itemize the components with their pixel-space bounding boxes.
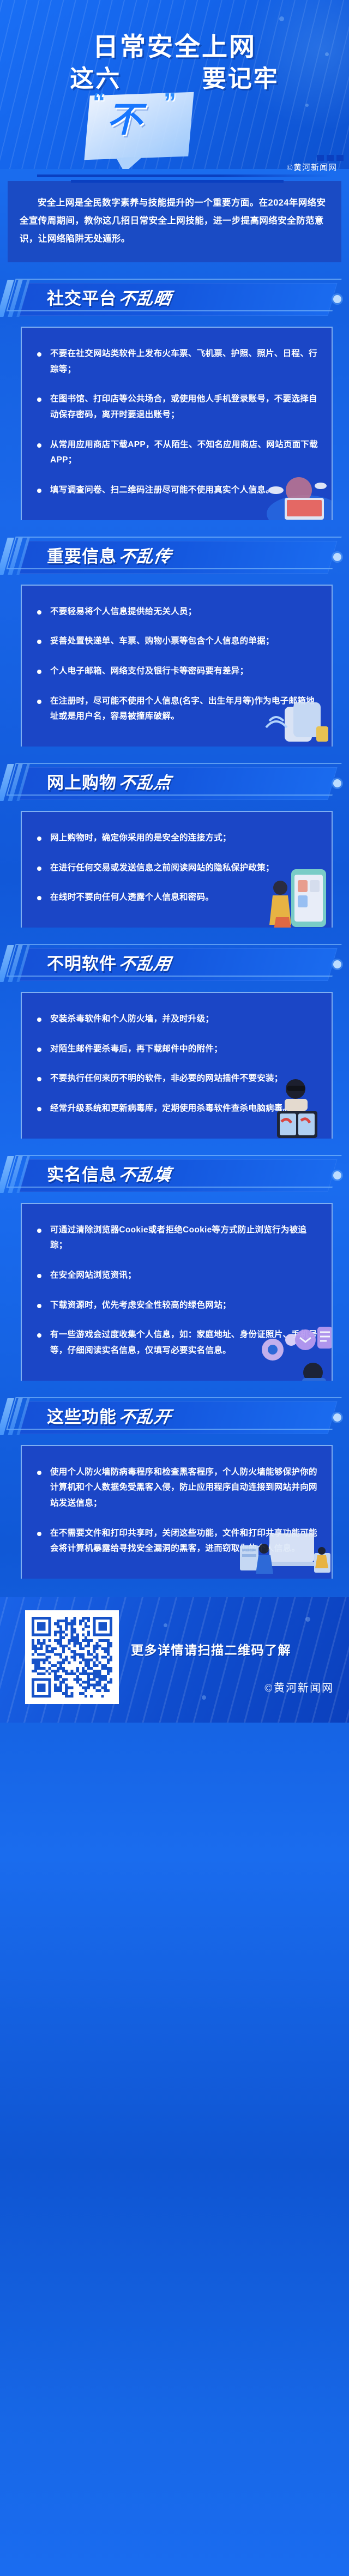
bullet-item: 使用个人防火墙防病毒程序和检查黑客程序，个人防火墙能够保护你的计算机和个人数据免… (34, 1465, 320, 1512)
hero-title-group: 日常安全上网 这六 要记牢 (0, 34, 349, 91)
section-bullet-list: 使用个人防火墙防病毒程序和检查黑客程序，个人防火墙能够保护你的计算机和个人数据免… (34, 1465, 320, 1557)
section-title: 网上购物不乱点 (47, 772, 171, 795)
section-title: 实名信息不乱填 (47, 1164, 171, 1187)
section-title-emphasis: 不乱点 (117, 772, 173, 795)
bullet-item: 个人电子邮箱、网络支付及银行卡等密码要有差异； (34, 664, 320, 679)
knob-decor (333, 553, 341, 561)
section-header-6: 这些功能不乱开 (0, 1397, 346, 1437)
bullet-item: 在安全网站浏览资讯； (34, 1268, 320, 1284)
bullet-item: 从常用应用商店下载APP，不从陌生、不知名应用商店、网站页面下载APP； (34, 437, 320, 468)
bullet-item: 有一些游戏会过度收集个人信息，如：家庭地址、身份证照片、手机号等，仔细阅读实名信… (34, 1327, 320, 1358)
bullet-item: 在注册时，尽可能不使用个人信息(名字、出生年月等)作为电子邮箱地址或是用户名，容… (34, 694, 320, 725)
section-bullet-list: 不要轻易将个人信息提供给无关人员；妥善处置快递单、车票、购物小票等包含个人信息的… (34, 604, 320, 725)
section-4: 不明软件不乱用安装杀毒软件和个人防火墙，并及时升级；对陌生邮件要杀毒后，再下载邮… (0, 944, 349, 1139)
section-body-1: 不要在社交网站类软件上发布火车票、飞机票、护照、照片、日程、行踪等；在图书馆、打… (21, 327, 333, 520)
section-body-3: 网上购物时，确定你采用的是安全的连接方式；在进行任何交易或发送信息之前阅读网站的… (21, 811, 333, 928)
sections-container: 社交平台不乱晒不要在社交网站类软件上发布火车票、飞机票、护照、照片、日程、行踪等… (0, 279, 349, 1579)
section-title-emphasis: 不乱传 (117, 545, 173, 568)
hero-title-line1: 日常安全上网 (0, 34, 349, 59)
section-title-normal: 这些功能 (47, 1407, 117, 1427)
hero-credit: ©黄河新闻网 (287, 161, 337, 173)
hero-line2-after: 要记牢 (202, 65, 279, 92)
section-bullet-list: 安装杀毒软件和个人防火墙，并及时升级；对陌生邮件要杀毒后，再下载邮件中的附件；不… (34, 1012, 320, 1117)
section-title: 不明软件不乱用 (47, 953, 171, 976)
section-body-2: 不要轻易将个人信息提供给无关人员；妥善处置快递单、车票、购物小票等包含个人信息的… (21, 585, 333, 747)
section-body-4: 安装杀毒软件和个人防火墙，并及时升级；对陌生邮件要杀毒后，再下载邮件中的附件；不… (21, 992, 333, 1139)
hero-emphasis-bu: 不 (107, 92, 141, 142)
bullet-item: 妥善处置快递单、车票、购物小票等包含个人信息的单据； (34, 634, 320, 649)
section-header-4: 不明软件不乱用 (0, 944, 346, 984)
section-body-6: 使用个人防火墙防病毒程序和检查黑客程序，个人防火墙能够保护你的计算机和个人数据免… (21, 1445, 333, 1579)
quote-right-glyph: ” (164, 87, 176, 117)
quote-left-glyph: “ (93, 87, 105, 117)
bullet-item: 在线时不要向任何人透露个人信息和密码。 (34, 890, 320, 906)
section-body-5: 可通过清除浏览器Cookie或者拒绝Cookie等方式防止浏览行为被追踪；在安全… (21, 1203, 333, 1381)
bullet-item: 下载资源时，优先考虑安全性较高的绿色网站； (34, 1298, 320, 1314)
hero-rule-secondary (71, 180, 284, 183)
footer-cta-text: 更多详情请扫描二维码了解 (131, 1640, 291, 1658)
intro-paragraph: 安全上网是全民数字素养与技能提升的一个重要方面。在2024年网络安全宣传周期间，… (20, 194, 329, 248)
hero-bar-decor (317, 155, 344, 161)
bullet-item: 不要在社交网站类软件上发布火车票、飞机票、护照、照片、日程、行踪等； (34, 346, 320, 377)
bullet-item: 可通过清除浏览器Cookie或者拒绝Cookie等方式防止浏览行为被追踪； (34, 1223, 320, 1254)
section-title-normal: 网上购物 (47, 773, 117, 792)
bullet-item: 在图书馆、打印店等公共场合，或使用他人手机登录账号，不要选择自动保存密码，离开时… (34, 392, 320, 423)
section-2: 重要信息不乱传不要轻易将个人信息提供给无关人员；妥善处置快递单、车票、购物小票等… (0, 537, 349, 747)
section-header-5: 实名信息不乱填 (0, 1155, 346, 1195)
bullet-item: 不要执行任何来历不明的软件，非必要的网站插件不要安装； (34, 1071, 320, 1087)
bullet-item: 在进行任何交易或发送信息之前阅读网站的隐私保护政策； (34, 860, 320, 876)
section-3: 网上购物不乱点网上购物时，确定你采用的是安全的连接方式；在进行任何交易或发送信息… (0, 763, 349, 928)
knob-decor (333, 960, 341, 968)
qr-code[interactable] (25, 1610, 119, 1704)
section-title-normal: 重要信息 (47, 547, 117, 566)
section-header-2: 重要信息不乱传 (0, 537, 346, 577)
section-6: 这些功能不乱开使用个人防火墙防病毒程序和检查黑客程序，个人防火墙能够保护你的计算… (0, 1397, 349, 1579)
knob-decor (333, 779, 341, 787)
hero-banner: 日常安全上网 这六 要记牢 “ 不 ” (0, 0, 349, 169)
bullet-item: 经常升级系统和更新病毒库，定期使用杀毒软件查杀电脑病毒。 (34, 1101, 320, 1117)
hero-rule-primary (37, 174, 333, 177)
section-title-emphasis: 不乱开 (117, 1406, 173, 1429)
section-bullet-list: 网上购物时，确定你采用的是安全的连接方式；在进行任何交易或发送信息之前阅读网站的… (34, 830, 320, 906)
intro-panel: 安全上网是全民数字素养与技能提升的一个重要方面。在2024年网络安全宣传周期间，… (8, 181, 341, 262)
section-header-1: 社交平台不乱晒 (0, 279, 346, 319)
footer-credit: ©黄河新闻网 (264, 1679, 334, 1695)
section-1: 社交平台不乱晒不要在社交网站类软件上发布火车票、飞机票、护照、照片、日程、行踪等… (0, 279, 349, 520)
section-title-emphasis: 不乱填 (117, 1164, 173, 1187)
section-header-3: 网上购物不乱点 (0, 763, 346, 803)
bullet-item: 网上购物时，确定你采用的是安全的连接方式； (34, 830, 320, 846)
section-title-normal: 实名信息 (47, 1165, 117, 1184)
bullet-item: 在不需要文件和打印共享时，关闭这些功能，文件和打印共享功能可能会将计算机暴露给寻… (34, 1526, 320, 1557)
bullet-item: 填写调查问卷、扫二维码注册尽可能不使用真实个人信息。 (34, 483, 320, 498)
section-title-emphasis: 不乱晒 (117, 287, 173, 310)
infographic-page: 日常安全上网 这六 要记牢 “ 不 ” ©黄河新闻网 安全上网是全民数字素养与技… (0, 0, 349, 2576)
knob-decor (333, 1413, 341, 1422)
section-5: 实名信息不乱填可通过清除浏览器Cookie或者拒绝Cookie等方式防止浏览行为… (0, 1155, 349, 1381)
section-title-normal: 不明软件 (47, 954, 117, 973)
section-title-normal: 社交平台 (47, 289, 117, 308)
footer-banner: 更多详情请扫描二维码了解 ©黄河新闻网 (0, 1597, 349, 1723)
section-bullet-list: 不要在社交网站类软件上发布火车票、飞机票、护照、照片、日程、行踪等；在图书馆、打… (34, 346, 320, 498)
section-title: 重要信息不乱传 (47, 545, 171, 568)
section-title-emphasis: 不乱用 (117, 953, 173, 976)
knob-decor (333, 1171, 341, 1179)
bullet-item: 不要轻易将个人信息提供给无关人员； (34, 604, 320, 620)
section-title: 社交平台不乱晒 (47, 287, 171, 310)
qr-code-image (32, 1617, 112, 1698)
bullet-item: 对陌生邮件要杀毒后，再下载邮件中的附件； (34, 1042, 320, 1057)
section-bullet-list: 可通过清除浏览器Cookie或者拒绝Cookie等方式防止浏览行为被追踪；在安全… (34, 1223, 320, 1359)
knob-decor (333, 295, 341, 303)
bullet-item: 安装杀毒软件和个人防火墙，并及时升级； (34, 1012, 320, 1027)
section-title: 这些功能不乱开 (47, 1406, 171, 1429)
